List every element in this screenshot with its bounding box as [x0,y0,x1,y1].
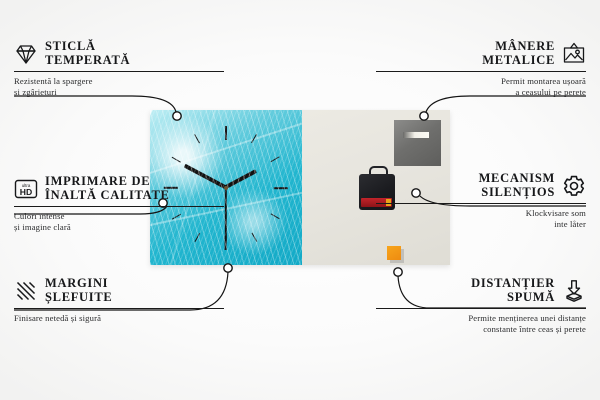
down-arrow-layer-icon [562,279,586,303]
callout-subtitle: Culori intense și imagine clară [14,211,224,232]
callout-title: MECANISM SILENȚIOS [479,172,555,199]
hanger-slot [403,132,429,138]
callout-header: MÂNERE METALICE [376,40,586,67]
callout-silent-mechanism: MECANISM SILENȚIOS Klockvisare som inte … [376,172,586,229]
clock-tick [225,126,227,140]
callout-rule [14,71,224,72]
metal-hanger-plate [394,120,441,166]
gear-icon [562,174,586,198]
callout-title: STICLĂ TEMPERATĂ [45,40,130,67]
callout-title: MÂNERE METALICE [482,40,555,67]
connector-endpoint-edges [224,264,232,272]
callout-header: STICLĂ TEMPERATĂ [14,40,224,67]
callout-metal-handles: MÂNERE METALICE Permit montarea ușoară a… [376,40,586,97]
callout-rule [376,71,586,72]
clock-hour-hand [225,170,257,190]
callout-rule [376,203,586,204]
callout-title: DISTANȚIER SPUMĂ [471,277,555,304]
clock-tick [251,232,257,241]
callout-header: MARGINI ȘLEFUITE [14,277,224,304]
callout-rule [376,308,586,309]
callout-header: DISTANȚIER SPUMĂ [376,277,586,304]
clock-tick [225,236,227,250]
clock-tick [271,213,280,219]
callout-polished-edges: MARGINI ȘLEFUITE Finisare netedă și sigu… [14,277,224,324]
callout-tempered-glass: STICLĂ TEMPERATĂ Rezistentă la spargere … [14,40,224,97]
hanging-frame-icon [562,42,586,66]
diagonal-lines-icon [14,279,38,303]
clock-tick [271,156,280,162]
connector-endpoint-foam [394,268,402,276]
callout-subtitle: Finisare netedă și sigură [14,313,224,324]
clock-tick [194,232,200,241]
callout-subtitle: Permite menținerea unei distanțe constan… [376,313,586,334]
clock-tick [251,133,257,142]
callout-foam-spacer: DISTANȚIER SPUMĂ Permite menținerea unei… [376,277,586,334]
foam-spacer-pad [387,246,401,260]
callout-title: IMPRIMARE DE ÎNALTĂ CALITATE [45,175,170,202]
callout-header: MECANISM SILENȚIOS [376,172,586,199]
infographic-canvas: STICLĂ TEMPERATĂ Rezistentă la spargere … [0,0,600,400]
clock-tick [274,187,288,189]
svg-text:HD: HD [20,187,32,197]
callout-subtitle: Rezistentă la spargere și zgârieturi [14,76,224,97]
callout-title: MARGINI ȘLEFUITE [45,277,112,304]
callout-subtitle: Permit montarea ușoară a ceasului pe per… [376,76,586,97]
ultra-hd-icon: ultra HD [14,177,38,201]
clock-second-hand [225,187,227,243]
callout-rule [14,206,224,207]
diamond-icon [14,42,38,66]
clock-center-pin [224,186,228,190]
clock-tick [194,133,200,142]
callout-rule [14,308,224,309]
callout-high-quality-print: ultra HD IMPRIMARE DE ÎNALTĂ CALITATE Cu… [14,175,224,232]
callout-header: ultra HD IMPRIMARE DE ÎNALTĂ CALITATE [14,175,224,202]
clock-tick [172,156,181,162]
callout-subtitle: Klockvisare som inte låter [376,208,586,229]
